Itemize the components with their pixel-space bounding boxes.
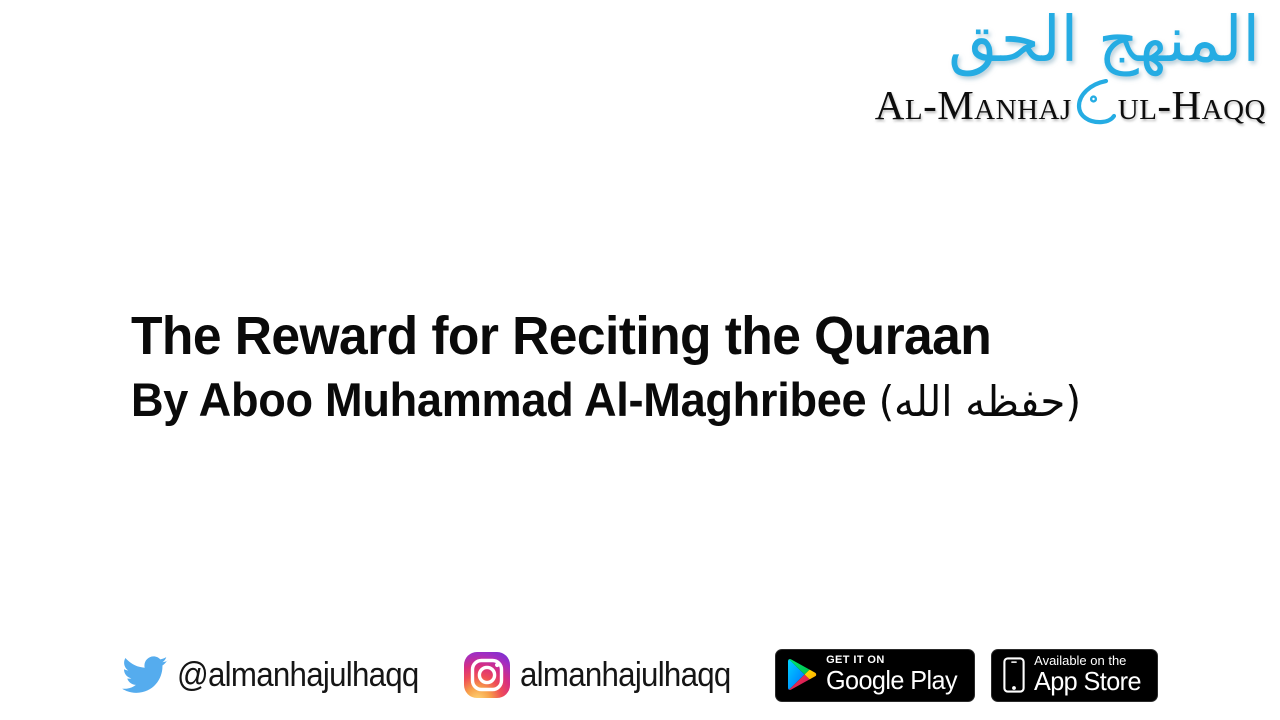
app-store-badge[interactable]: Available on the App Store <box>991 649 1158 702</box>
brand-logo: المنهج الحق Al-Manhaj ul-Haqq <box>768 8 1268 160</box>
twitter-entry[interactable]: @almanhajulhaqq <box>122 655 440 695</box>
lecture-byline: By Aboo Muhammad Al-Maghribee (حفظه الله… <box>131 374 1149 427</box>
logo-wordmark-left: Al-Manhaj <box>875 81 1072 129</box>
twitter-bird-icon <box>122 655 168 695</box>
social-footer: @almanhajulhaqq <box>0 640 1280 710</box>
arabic-swoosh-icon <box>1076 79 1116 125</box>
logo-arabic-text: المنهج الحق <box>768 8 1268 71</box>
lecture-text-block: The Reward for Reciting the Quraan By Ab… <box>131 306 1191 427</box>
instagram-entry[interactable]: almanhajulhaqq <box>463 651 749 699</box>
iphone-icon <box>1003 657 1025 693</box>
google-play-name: Google Play <box>826 667 957 694</box>
lecture-speaker-honorific: (حفظه الله) <box>879 377 1081 426</box>
twitter-handle: @almanhajulhaqq <box>177 656 419 695</box>
google-play-badge[interactable]: GET IT ON Google Play <box>775 649 975 702</box>
app-store-labels: Available on the App Store <box>1034 654 1144 694</box>
lecture-speaker-name: By Aboo Muhammad Al-Maghribee <box>131 373 879 426</box>
page-title: The Reward for Reciting the Quraan <box>131 306 1143 366</box>
google-play-labels: GET IT ON Google Play <box>826 655 961 693</box>
logo-wordmark: Al-Manhaj ul-Haqq <box>768 73 1268 129</box>
instagram-camera-icon <box>463 651 511 699</box>
logo-wordmark-right: ul-Haqq <box>1118 81 1266 129</box>
app-store-name: App Store <box>1034 668 1141 695</box>
google-play-triangle-icon <box>787 658 817 691</box>
instagram-handle: almanhajulhaqq <box>520 656 731 695</box>
